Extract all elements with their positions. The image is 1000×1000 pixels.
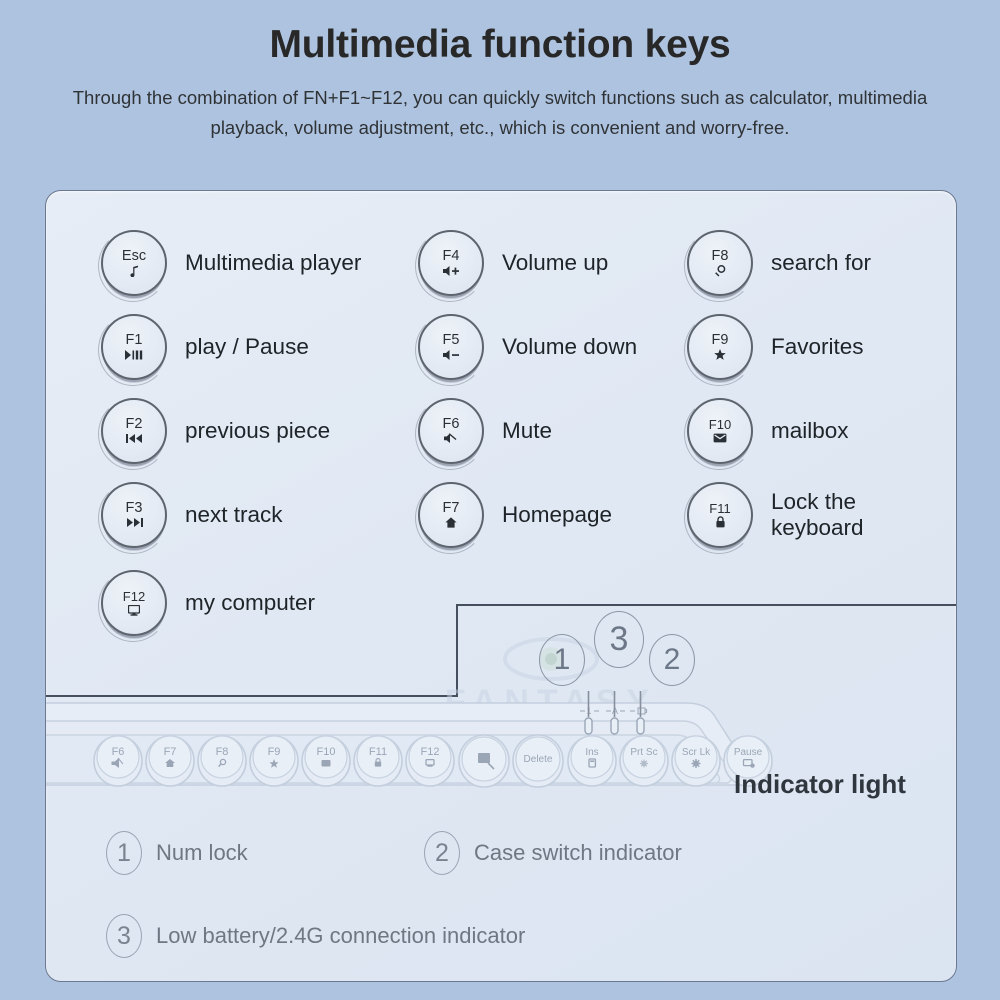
- key-description: Volume up: [502, 250, 608, 276]
- key-column-1: Esc Multimedia player F1 play / Pause F2: [101, 221, 361, 645]
- svg-text:Pause: Pause: [734, 747, 763, 758]
- page-subtitle: Through the combination of FN+F1~F12, yo…: [50, 83, 950, 144]
- page-title: Multimedia function keys: [0, 24, 1000, 67]
- key-row-f9: F9 Favorites: [687, 305, 871, 389]
- svg-text:Scr Lk: Scr Lk: [682, 747, 711, 758]
- divider-horizontal-right: [456, 604, 956, 606]
- music-note-icon: [129, 265, 140, 277]
- key-description: Volume down: [502, 334, 637, 360]
- keycap-label: F11: [709, 502, 730, 515]
- legend-number: 2: [424, 831, 460, 875]
- legend-label: Case switch indicator: [474, 840, 682, 866]
- keycap-f8[interactable]: F8: [687, 230, 753, 296]
- key-row-f2: F2 previous piece: [101, 389, 361, 473]
- key-description: Multimedia player: [185, 250, 361, 276]
- keycap-f5[interactable]: F5: [418, 314, 484, 380]
- key-description: Mute: [502, 418, 552, 444]
- keycap-label: F3: [126, 501, 143, 516]
- volume-down-icon: [443, 349, 460, 361]
- keycap-label: F10: [709, 418, 731, 431]
- key-column-3: F8 search for F9 Favorites F10: [687, 221, 871, 557]
- keycap-esc[interactable]: Esc: [101, 230, 167, 296]
- svg-text:F10: F10: [317, 746, 336, 758]
- key-row-f6: F6 Mute: [418, 389, 637, 473]
- mail-icon: [713, 432, 727, 444]
- page-header: Multimedia function keys Through the com…: [0, 0, 1000, 144]
- key-row-f5: F5 Volume down: [418, 305, 637, 389]
- keycap-f2[interactable]: F2: [101, 398, 167, 464]
- key-description: mailbox: [771, 418, 849, 444]
- key-row-f1: F1 play / Pause: [101, 305, 361, 389]
- key-row-f7: F7 Homepage: [418, 473, 637, 557]
- indicator-light-title: Indicator light: [734, 769, 906, 800]
- volume-up-icon: [443, 265, 460, 277]
- keycap-label: F9: [712, 333, 729, 348]
- key-row-f8: F8 search for: [687, 221, 871, 305]
- keycap-f11[interactable]: F11: [687, 482, 753, 548]
- keycap-f9[interactable]: F9: [687, 314, 753, 380]
- keycap-label: F2: [126, 417, 143, 432]
- svg-text:Prt Sc: Prt Sc: [630, 747, 657, 758]
- svg-text:F9: F9: [268, 746, 281, 758]
- key-description: play / Pause: [185, 334, 309, 360]
- key-row-esc: Esc Multimedia player: [101, 221, 361, 305]
- key-description: Lock the keyboard: [771, 489, 864, 540]
- legend-number: 1: [106, 831, 142, 875]
- key-description: search for: [771, 250, 871, 276]
- keyboard-illustration: F6 F7 F8: [46, 691, 956, 831]
- svg-text:Delete: Delete: [524, 754, 553, 765]
- legend-number: 3: [106, 914, 142, 958]
- legend-item-1: 1 Num lock: [106, 831, 248, 875]
- search-icon: [715, 265, 726, 277]
- callout-1: 1: [539, 634, 585, 686]
- keycap-f7[interactable]: F7: [418, 482, 484, 548]
- keycap-f6[interactable]: F6: [418, 398, 484, 464]
- svg-text:F12: F12: [421, 746, 440, 758]
- keycap-label: F8: [712, 249, 729, 264]
- svg-text:Ins: Ins: [585, 747, 598, 758]
- mute-icon: [444, 433, 458, 445]
- previous-track-icon: [126, 433, 143, 445]
- key-column-2: F4 Volume up F5 Volume down F6: [418, 221, 637, 557]
- key-description: next track: [185, 502, 283, 528]
- keycap-f12[interactable]: F12: [101, 570, 167, 636]
- key-row-f10: F10 mailbox: [687, 389, 871, 473]
- callout-number: 2: [664, 643, 681, 677]
- keyboard-svg: F6 F7 F8: [46, 691, 956, 831]
- keycap-label: F5: [443, 333, 460, 348]
- svg-text:F6: F6: [112, 746, 125, 758]
- svg-text:F7: F7: [164, 746, 177, 758]
- callout-2: 2: [649, 634, 695, 686]
- callout-number: 3: [610, 620, 629, 659]
- keycap-label: F12: [123, 590, 145, 603]
- legend-item-3: 3 Low battery/2.4G connection indicator: [106, 914, 525, 958]
- key-description: Favorites: [771, 334, 864, 360]
- lock-icon: [715, 516, 726, 528]
- keycap-label: F4: [443, 249, 460, 264]
- star-icon: [714, 349, 726, 361]
- key-row-f3: F3 next track: [101, 473, 361, 557]
- monitor-icon: [128, 604, 140, 616]
- legend-label: Num lock: [156, 840, 248, 866]
- key-description: Homepage: [502, 502, 612, 528]
- svg-text:F11: F11: [369, 746, 387, 758]
- legend-item-2: 2 Case switch indicator: [424, 831, 682, 875]
- key-description: previous piece: [185, 418, 330, 444]
- next-track-icon: [126, 517, 143, 529]
- keycap-label: F1: [126, 333, 143, 348]
- key-row-f4: F4 Volume up: [418, 221, 637, 305]
- keycap-label: F7: [443, 501, 460, 516]
- key-row-f11: F11 Lock the keyboard: [687, 473, 871, 557]
- keycap-f3[interactable]: F3: [101, 482, 167, 548]
- function-keys-panel: FANTASY Esc Multimedia player F1 play / …: [45, 190, 957, 982]
- callout-3: 3: [594, 611, 644, 668]
- keycap-label: Esc: [122, 249, 146, 264]
- key-description: my computer: [185, 590, 315, 616]
- keycap-f1[interactable]: F1: [101, 314, 167, 380]
- home-icon: [445, 517, 457, 529]
- keycap-f10[interactable]: F10: [687, 398, 753, 464]
- keycap-f4[interactable]: F4: [418, 230, 484, 296]
- divider-vertical: [456, 604, 458, 697]
- key-row-f12: F12 my computer: [101, 561, 361, 645]
- keycap-label: F6: [443, 417, 460, 432]
- svg-text:F8: F8: [216, 746, 229, 758]
- play-pause-icon: [125, 349, 143, 361]
- legend-label: Low battery/2.4G connection indicator: [156, 923, 525, 949]
- callout-number: 1: [554, 643, 571, 677]
